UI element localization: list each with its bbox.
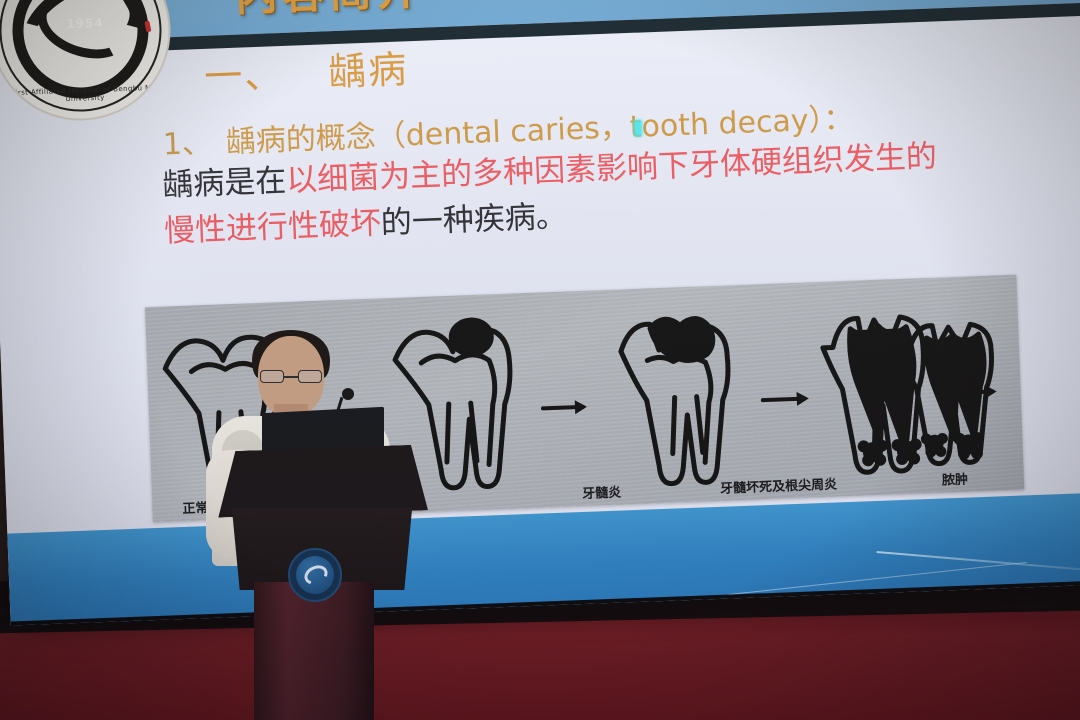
- figure-caption-2: 牙髓炎: [582, 482, 622, 502]
- tooth-abscess-illustration: [886, 275, 1024, 495]
- footer-accent-line: [877, 551, 1080, 577]
- projection-screen: 内容简介 蚌埠医学院第一附属医院 1954 The First Affiliat…: [0, 0, 1080, 626]
- photograph-scene: 内容简介 蚌埠医学院第一附属医院 1954 The First Affiliat…: [0, 0, 1080, 720]
- lectern-top: [214, 444, 428, 517]
- section-heading: 一、龋病: [203, 38, 409, 101]
- definition-suffix: 的一种疾病。: [380, 198, 567, 241]
- lectern: [214, 432, 428, 720]
- figure-caption-4: 脓肿: [942, 469, 969, 489]
- microphone-icon: [342, 388, 354, 400]
- hospital-logo: 蚌埠医学院第一附属医院 1954 The First Affiliated Ho…: [0, 0, 174, 124]
- lectern-column: [254, 582, 374, 720]
- eyeglasses-icon: [260, 370, 322, 383]
- section-number: 一、: [203, 52, 285, 99]
- mouse-cursor-icon[interactable]: [633, 119, 643, 136]
- logo-year: 1954: [66, 16, 104, 31]
- definition-emphasis-2: 慢性进行性破坏: [163, 205, 381, 249]
- definition-prefix: 龋病是在: [162, 163, 287, 204]
- section-topic: 龋病: [327, 47, 409, 94]
- presentation-slide: 内容简介 蚌埠医学院第一附属医院 1954 The First Affiliat…: [0, 0, 1080, 626]
- lectern-emblem: [288, 548, 342, 602]
